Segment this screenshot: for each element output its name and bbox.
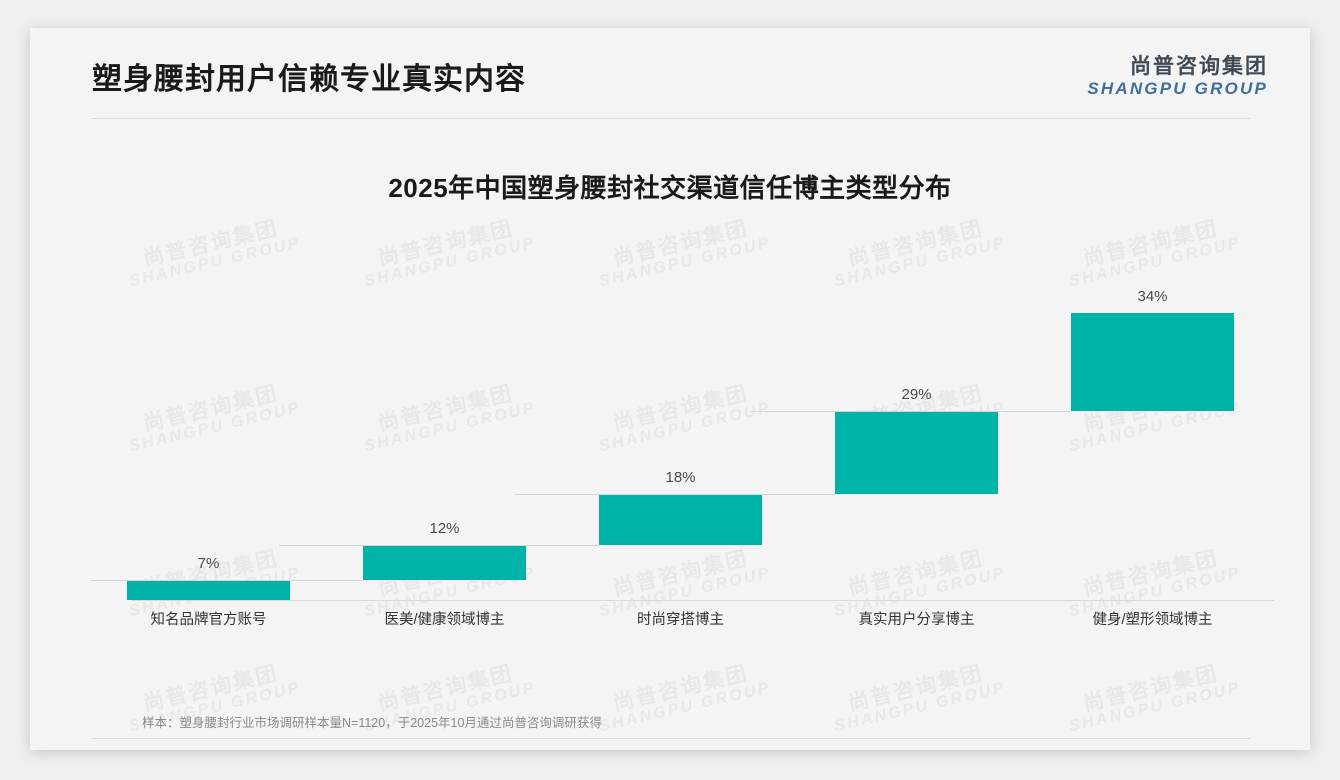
- category-label-2: 医美/健康领域博主: [313, 608, 576, 629]
- waterfall-base-connector: [279, 545, 599, 546]
- waterfall-chart: 7%知名品牌官方账号12%医美/健康领域博主18%时尚穿搭博主29%真实用户分享…: [90, 208, 1270, 628]
- category-label-1: 知名品牌官方账号: [77, 608, 340, 629]
- category-label-5: 健身/塑形领域博主: [1021, 608, 1284, 629]
- bar-4[interactable]: [835, 411, 998, 494]
- bar-3[interactable]: [599, 494, 762, 546]
- watermark-text: 尚普咨询集团SHANGPU GROUP: [1063, 659, 1243, 736]
- slide-footer: ©2025.12 SHANGPU GROUP www.shangpu-china…: [30, 739, 1310, 750]
- bar-value-label: 12%: [323, 520, 566, 537]
- bar-value-label: 18%: [559, 469, 802, 486]
- waterfall-base-connector: [751, 411, 1071, 412]
- waterfall-base-connector: [90, 580, 363, 581]
- bar-5[interactable]: [1071, 313, 1234, 411]
- logo-chinese-text: 尚普咨询集团: [1087, 55, 1268, 79]
- x-axis-line: [132, 600, 1274, 601]
- bar-1[interactable]: [127, 580, 290, 600]
- bar-2[interactable]: [363, 545, 526, 579]
- bar-value-label: 7%: [87, 555, 330, 572]
- category-label-3: 时尚穿搭博主: [549, 608, 812, 629]
- slide-canvas: 尚普咨询集团SHANGPU GROUP尚普咨询集团SHANGPU GROUP尚普…: [30, 28, 1310, 750]
- category-label-4: 真实用户分享博主: [785, 608, 1048, 629]
- bar-value-label: 29%: [795, 386, 1038, 403]
- watermark-text: 尚普咨询集团SHANGPU GROUP: [593, 659, 773, 736]
- header-divider: [92, 118, 1250, 119]
- chart-title: 2025年中国塑身腰封社交渠道信任博主类型分布: [30, 168, 1310, 205]
- company-logo: 尚普咨询集团 SHANGPU GROUP: [1087, 55, 1268, 98]
- logo-english-text: SHANGPU GROUP: [1087, 79, 1268, 98]
- slide-header: 塑身腰封用户信赖专业真实内容 尚普咨询集团 SHANGPU GROUP: [30, 28, 1310, 118]
- watermark-text: 尚普咨询集团SHANGPU GROUP: [828, 659, 1008, 736]
- bar-value-label: 34%: [1031, 288, 1274, 305]
- waterfall-base-connector: [515, 494, 835, 495]
- chart-footnote: 样本：塑身腰封行业市场调研样本量N=1120，于2025年10月通过尚普咨询调研…: [142, 712, 602, 731]
- page-title: 塑身腰封用户信赖专业真实内容: [92, 54, 526, 98]
